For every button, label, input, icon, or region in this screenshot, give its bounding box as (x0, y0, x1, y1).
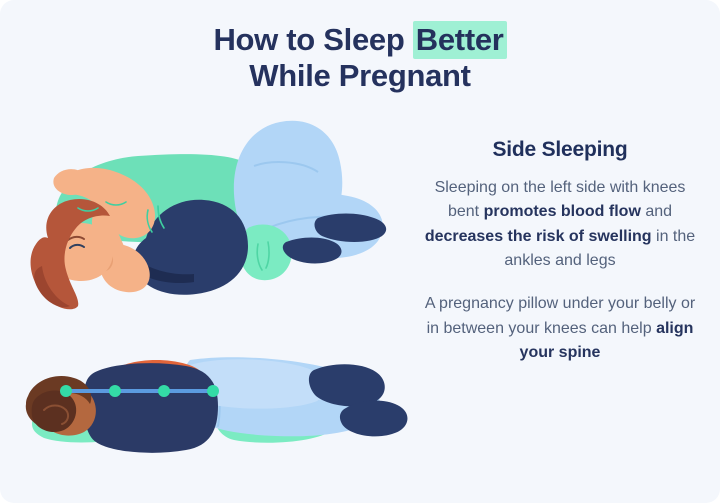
foot-lower-sock (283, 238, 342, 264)
spine-dot-2 (109, 385, 121, 397)
page-title: How to Sleep Better While Pregnant (0, 22, 720, 94)
spine-dot-4 (207, 385, 219, 397)
hand-shape (53, 169, 87, 195)
navy-top-shape (83, 363, 218, 453)
infographic-card: How to Sleep Better While Pregnant (0, 0, 720, 503)
mint-knee-pillow (240, 224, 292, 280)
spine-dot-1 (60, 385, 72, 397)
title-highlight-better: Better (413, 21, 507, 59)
paragraph-pregnancy-pillow: A pregnancy pillow under your belly or i… (412, 292, 708, 365)
side-sleeping-text-column: Side Sleeping Sleeping on the left side … (412, 138, 708, 365)
illustration-pregnant-woman-side-sleeping (18, 116, 418, 311)
title-line-1: How to Sleep Better (0, 22, 720, 58)
section-heading-side-sleeping: Side Sleeping (412, 138, 708, 162)
title-line-2: While Pregnant (0, 58, 720, 94)
title-text-before: How to Sleep (213, 22, 412, 57)
spine-dot-3 (158, 385, 170, 397)
paragraph-side-sleeping-benefits: Sleeping on the left side with knees ben… (412, 176, 708, 273)
hair-bun (32, 391, 77, 433)
illustration-spine-alignment-side-sleeping (18, 316, 418, 476)
sock-lower (340, 401, 408, 437)
